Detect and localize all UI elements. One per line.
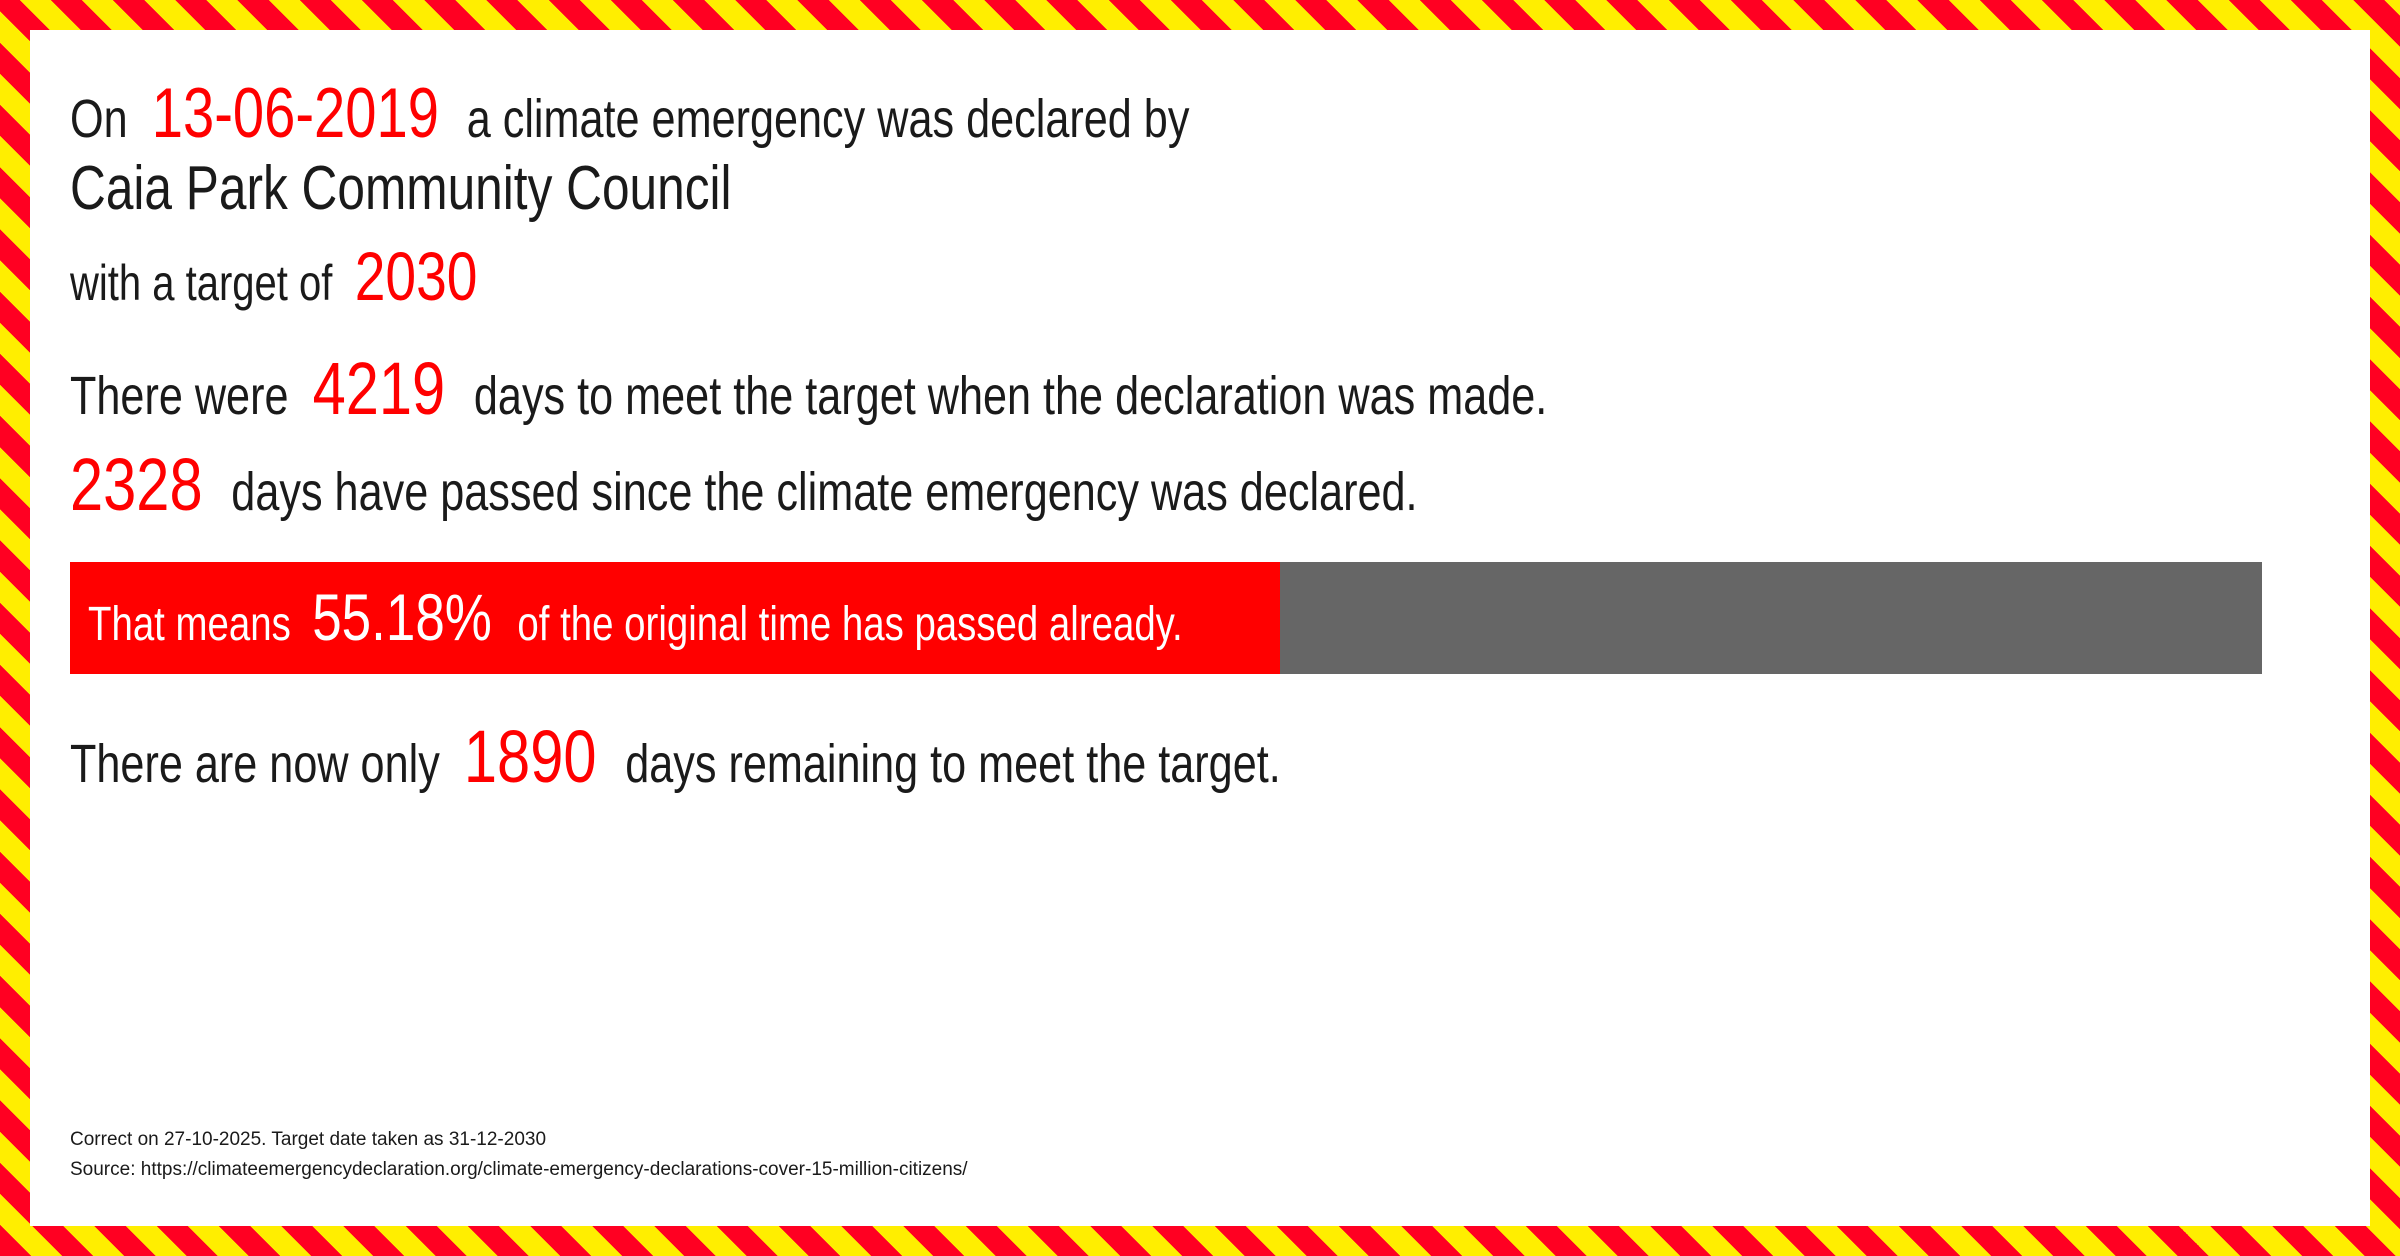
declaration-prefix: On (70, 89, 128, 149)
footnote-correct-on: Correct on 27-10-2025. Target date taken… (70, 1125, 968, 1154)
declaration-suffix: a climate emergency was declared by (467, 89, 1190, 149)
hazard-frame: On 13-06-2019 a climate emergency was de… (0, 0, 2400, 1256)
progress-label-suffix: of the original time has passed already. (517, 598, 1182, 651)
footnote-source: Source: https://climateemergencydeclarat… (70, 1155, 968, 1184)
progress-label-prefix: That means (88, 598, 291, 651)
original-days-line: There were 4219 days to meet the target … (70, 352, 1917, 427)
original-days-value: 4219 (313, 347, 446, 430)
declaring-authority: Caia Park Community Council (70, 158, 897, 220)
remaining-days-line: There are now only 1890 days remaining t… (70, 720, 1583, 795)
original-days-suffix: days to meet the target when the declara… (474, 366, 1547, 426)
progress-percent: 55.18% (312, 581, 492, 655)
elapsed-days-suffix: days have passed since the climate emerg… (231, 462, 1417, 522)
declaration-headline: On 13-06-2019 a climate emergency was de… (70, 78, 1469, 148)
elapsed-days-value: 2328 (70, 443, 203, 526)
declaration-date: 13-06-2019 (152, 73, 439, 152)
elapsed-days-line: 2328 days have passed since the climate … (70, 448, 1754, 523)
footnote: Correct on 27-10-2025. Target date taken… (70, 1125, 968, 1184)
remaining-days-prefix: There are now only (70, 734, 440, 794)
progress-bar-label: That means 55.18% of the original time h… (88, 562, 1456, 674)
target-prefix: with a target of (70, 255, 332, 311)
remaining-days-value: 1890 (464, 715, 597, 798)
remaining-days-suffix: days remaining to meet the target. (625, 734, 1281, 794)
poster-card: On 13-06-2019 a climate emergency was de… (30, 30, 2370, 1226)
target-year: 2030 (355, 238, 478, 315)
original-days-prefix: There were (70, 366, 289, 426)
declaring-authority-name: Caia Park Community Council (70, 158, 732, 220)
progress-bar: That means 55.18% of the original time h… (70, 562, 2262, 674)
target-line: with a target of 2030 (70, 242, 579, 311)
